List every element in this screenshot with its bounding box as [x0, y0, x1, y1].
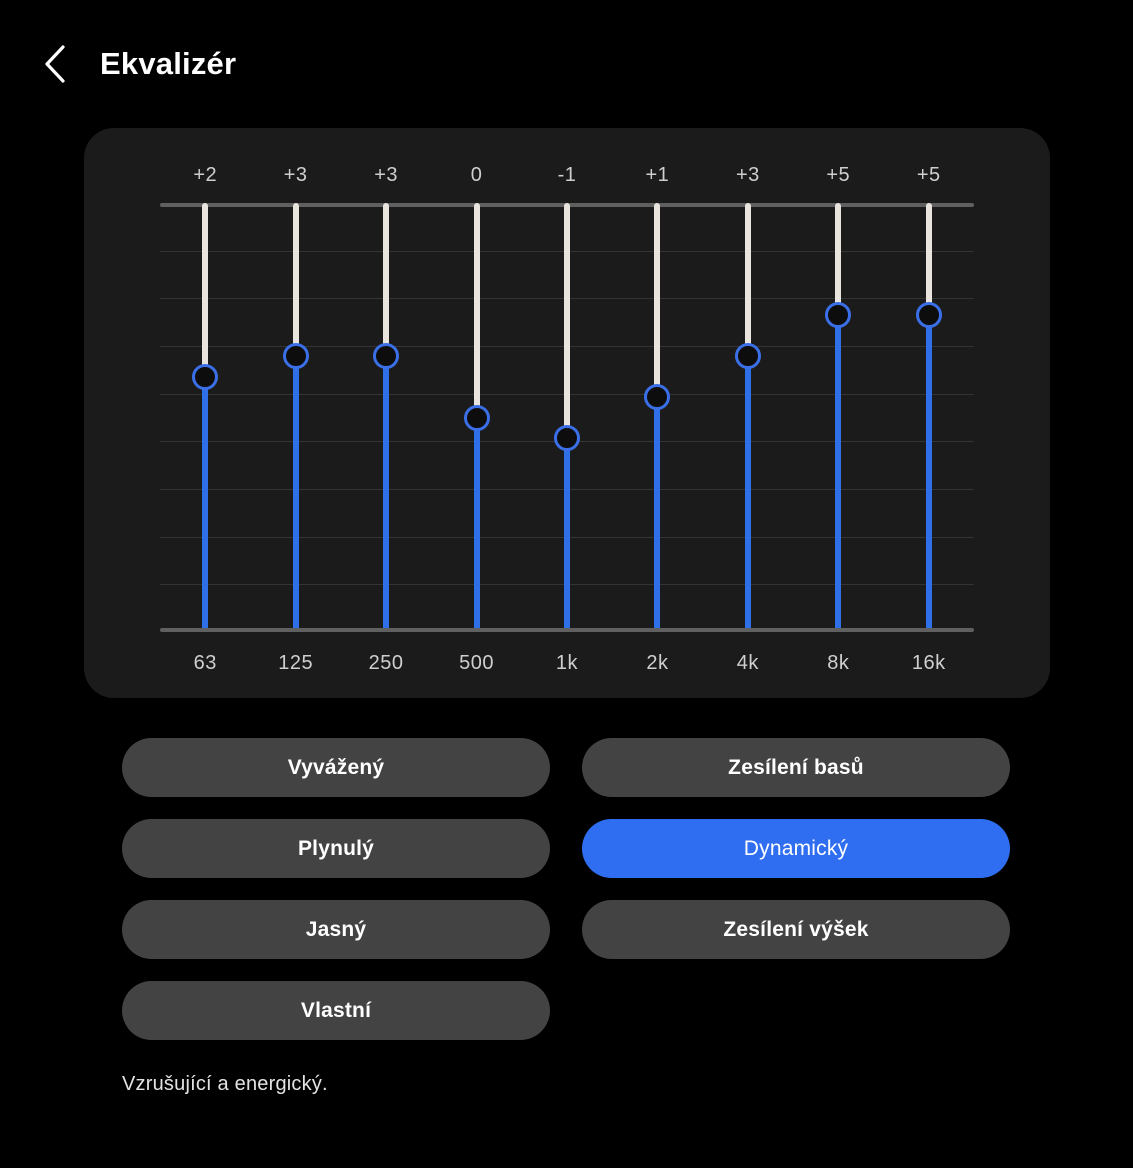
- eq-slider-250[interactable]: [341, 203, 431, 632]
- eq-slider-16k[interactable]: [884, 203, 974, 632]
- band-value-label: +3: [250, 158, 340, 192]
- slider-bands: [160, 203, 974, 632]
- slider-track-active: [745, 356, 751, 632]
- equalizer-card: +2+3+30-1+1+3+5+5 631252505001k2k4k8k16k: [84, 128, 1050, 698]
- slider-thumb[interactable]: [735, 343, 761, 369]
- band-value-label: -1: [522, 158, 612, 192]
- slider-track-inactive: [835, 203, 841, 315]
- slider-thumb[interactable]: [373, 343, 399, 369]
- slider-track-inactive: [654, 203, 660, 397]
- slider-thumb[interactable]: [192, 364, 218, 390]
- eq-slider-4k[interactable]: [703, 203, 793, 632]
- slider-track-active: [654, 397, 660, 632]
- slider-thumb[interactable]: [464, 405, 490, 431]
- band-value-labels: +2+3+30-1+1+3+5+5: [160, 158, 974, 192]
- band-value-label: +1: [612, 158, 702, 192]
- slider-track-active: [202, 377, 208, 632]
- slider-track-active: [383, 356, 389, 632]
- slider-thumb[interactable]: [825, 302, 851, 328]
- eq-slider-125[interactable]: [250, 203, 340, 632]
- chevron-left-icon: [42, 44, 68, 84]
- preset-button[interactable]: Plynulý: [122, 819, 550, 878]
- equalizer-plot-area: +2+3+30-1+1+3+5+5 631252505001k2k4k8k16k: [160, 158, 974, 668]
- slider-track-active: [474, 418, 480, 633]
- eq-slider-63[interactable]: [160, 203, 250, 632]
- slider-track-active: [926, 315, 932, 632]
- slider-track-inactive: [564, 203, 570, 438]
- frequency-label: 63: [160, 646, 250, 680]
- preset-button[interactable]: Zesílení výšek: [582, 900, 1010, 959]
- bottom-rail: [160, 628, 974, 632]
- slider-thumb[interactable]: [283, 343, 309, 369]
- frequency-label: 500: [431, 646, 521, 680]
- page-title: Ekvalizér: [100, 46, 236, 82]
- back-button[interactable]: [24, 33, 86, 95]
- slider-track-inactive: [474, 203, 480, 418]
- slider-thumb[interactable]: [916, 302, 942, 328]
- frequency-label: 1k: [522, 646, 612, 680]
- band-value-label: +3: [703, 158, 793, 192]
- preset-section: VyváženýZesílení basůPlynulýDynamickýJas…: [122, 738, 1010, 1040]
- preset-button[interactable]: Vyvážený: [122, 738, 550, 797]
- frequency-label: 2k: [612, 646, 702, 680]
- frequency-label: 250: [341, 646, 431, 680]
- preset-button[interactable]: Vlastní: [122, 981, 550, 1040]
- slider-plot: [160, 203, 974, 632]
- preset-button[interactable]: Dynamický: [582, 819, 1010, 878]
- frequency-label: 8k: [793, 646, 883, 680]
- slider-thumb[interactable]: [554, 425, 580, 451]
- band-value-label: +3: [341, 158, 431, 192]
- slider-track-inactive: [202, 203, 208, 377]
- preset-grid: VyváženýZesílení basůPlynulýDynamickýJas…: [122, 738, 1010, 1040]
- slider-track-active: [293, 356, 299, 632]
- slider-track-inactive: [293, 203, 299, 356]
- eq-slider-8k[interactable]: [793, 203, 883, 632]
- slider-track-inactive: [383, 203, 389, 356]
- slider-track-inactive: [926, 203, 932, 315]
- preset-button[interactable]: Zesílení basů: [582, 738, 1010, 797]
- frequency-labels: 631252505001k2k4k8k16k: [160, 646, 974, 680]
- slider-track-active: [564, 438, 570, 632]
- preset-empty-slot: [582, 981, 1010, 1040]
- frequency-label: 125: [250, 646, 340, 680]
- eq-slider-1k[interactable]: [522, 203, 612, 632]
- eq-slider-2k[interactable]: [612, 203, 702, 632]
- frequency-label: 16k: [884, 646, 974, 680]
- equalizer-screen: Ekvalizér +2+3+30-1+1+3+5+5 631252505001…: [0, 0, 1133, 1168]
- slider-track-active: [835, 315, 841, 632]
- band-value-label: +5: [884, 158, 974, 192]
- band-value-label: 0: [431, 158, 521, 192]
- slider-track-inactive: [745, 203, 751, 356]
- eq-slider-500[interactable]: [431, 203, 521, 632]
- preset-description: Vzrušující a energický.: [122, 1073, 328, 1096]
- band-value-label: +2: [160, 158, 250, 192]
- band-value-label: +5: [793, 158, 883, 192]
- app-header: Ekvalizér: [0, 0, 1133, 128]
- slider-thumb[interactable]: [644, 384, 670, 410]
- frequency-label: 4k: [703, 646, 793, 680]
- preset-button[interactable]: Jasný: [122, 900, 550, 959]
